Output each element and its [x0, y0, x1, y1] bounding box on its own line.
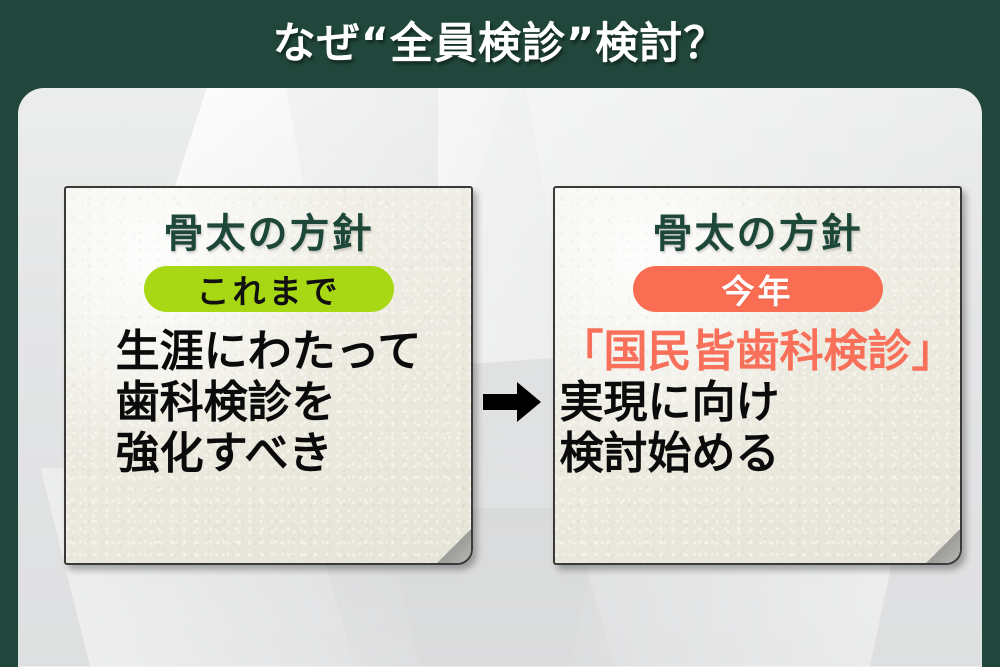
card-this-year-heading: 骨太の方針 [653, 214, 863, 254]
card-past-line-2: 歯科検診を [116, 377, 422, 428]
card-past-badge: これまで [144, 266, 394, 312]
card-this-year-line-2: 実現に向け [560, 377, 956, 428]
title-bar: なぜ“全員検診”検討？ [0, 0, 1000, 88]
card-past-line-1: 生涯にわたって [116, 326, 422, 377]
card-this-year-body: 「国民皆歯科検診」 実現に向け 検討始める [560, 326, 956, 479]
card-this-year-line-3: 検討始める [560, 428, 956, 479]
infographic-screen: なぜ“全員検診”検討？ 骨太の方針 これまで 生涯にわたって 歯科検診を 強化す… [0, 0, 1000, 667]
card-this-year-badge: 今年 [633, 266, 883, 312]
card-this-year: 骨太の方針 今年 「国民皆歯科検診」 実現に向け 検討始める [553, 186, 962, 565]
card-past-line-3: 強化すべき [116, 428, 422, 479]
card-this-year-line-1: 「国民皆歯科検診」 [560, 326, 956, 377]
content-panel: 骨太の方針 これまで 生涯にわたって 歯科検診を 強化すべき 骨太の方針 今年 … [18, 88, 982, 667]
page-title: なぜ“全員検診”検討？ [273, 23, 728, 66]
card-past: 骨太の方針 これまで 生涯にわたって 歯科検診を 強化すべき [64, 186, 473, 565]
right-arrow-icon [481, 380, 543, 424]
card-past-heading: 骨太の方針 [164, 214, 374, 254]
card-past-body: 生涯にわたって 歯科検診を 強化すべき [116, 326, 422, 479]
